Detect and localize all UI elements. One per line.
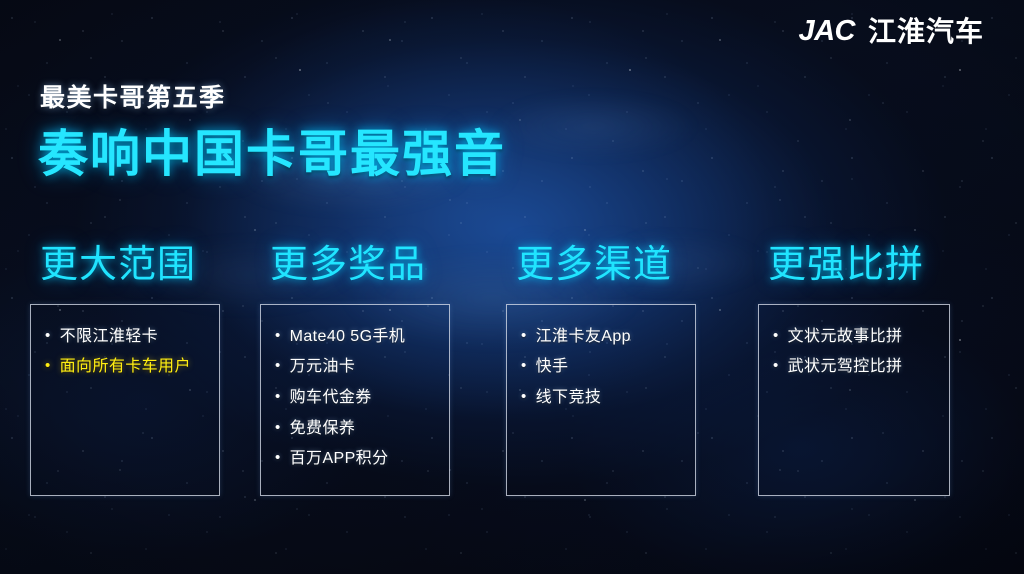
list-item-label: 百万APP积分	[290, 448, 389, 470]
list-item: • 江淮卡友App	[521, 326, 689, 348]
column-more-scope: 更大范围 • 不限江淮轻卡 • 面向所有卡车用户	[30, 246, 276, 496]
list-item-label: 江淮卡友App	[536, 326, 631, 348]
bullet-dot-icon: •	[521, 358, 527, 373]
column-stronger-competition: 更强比拼 • 文状元故事比拼 • 武状元驾控比拼	[758, 246, 1004, 496]
slide-subtitle: 最美卡哥第五季	[40, 78, 226, 114]
list-item: • 线下竞技	[521, 387, 689, 409]
bullet-dot-icon: •	[521, 328, 527, 343]
logo-chinese-name: 江淮汽车	[868, 18, 984, 46]
column-more-channels: 更多渠道 • 江淮卡友App • 快手 • 线下竞技	[506, 246, 752, 496]
list-item-label: 面向所有卡车用户	[60, 356, 191, 378]
list-item: • 百万APP积分	[275, 448, 443, 470]
bullet-dot-icon: •	[521, 389, 527, 404]
column-content-box: • Mate40 5G手机 • 万元油卡 • 购车代金券 • 免费保养	[260, 304, 450, 496]
presentation-slide: JAC 江淮汽车 最美卡哥第五季 奏响中国卡哥最强音 更大范围 • 不限江淮轻卡…	[0, 0, 1024, 574]
column-heading: 更多奖品	[270, 246, 506, 286]
column-content-box: • 江淮卡友App • 快手 • 线下竞技	[506, 304, 696, 496]
list-item-label: 不限江淮轻卡	[60, 326, 158, 348]
list-item-label: Mate40 5G手机	[290, 326, 406, 348]
list-item: • 面向所有卡车用户	[45, 356, 213, 378]
column-content-box: • 不限江淮轻卡 • 面向所有卡车用户	[30, 304, 220, 496]
list-item-label: 万元油卡	[290, 356, 356, 378]
list-item: • 购车代金券	[275, 387, 443, 409]
logo-wordmark: JAC	[798, 17, 855, 46]
list-item: • 万元油卡	[275, 356, 443, 378]
column-content-box: • 文状元故事比拼 • 武状元驾控比拼	[758, 304, 950, 496]
list-item-label: 武状元驾控比拼	[788, 356, 903, 378]
bullet-dot-icon: •	[275, 389, 281, 404]
list-item-label: 免费保养	[290, 418, 356, 440]
bullet-dot-icon: •	[773, 328, 779, 343]
bullet-list: • Mate40 5G手机 • 万元油卡 • 购车代金券 • 免费保养	[275, 326, 443, 470]
list-item-label: 线下竞技	[536, 387, 602, 409]
list-item: • Mate40 5G手机	[275, 326, 443, 348]
column-heading: 更多渠道	[516, 246, 752, 286]
list-item-label: 购车代金券	[290, 387, 372, 409]
list-item: • 免费保养	[275, 418, 443, 440]
list-item: • 武状元驾控比拼	[773, 356, 943, 378]
bullet-list: • 不限江淮轻卡 • 面向所有卡车用户	[45, 326, 213, 378]
bullet-dot-icon: •	[773, 358, 779, 373]
bullet-dot-icon: •	[275, 450, 281, 465]
slide-main-title: 奏响中国卡哥最强音	[38, 128, 506, 181]
list-item: • 文状元故事比拼	[773, 326, 943, 348]
jac-logo: JAC 江淮汽车	[798, 17, 984, 46]
bullet-dot-icon: •	[275, 420, 281, 435]
bullet-dot-icon: •	[45, 328, 51, 343]
bullet-list: • 江淮卡友App • 快手 • 线下竞技	[521, 326, 689, 409]
list-item: • 不限江淮轻卡	[45, 326, 213, 348]
list-item: • 快手	[521, 356, 689, 378]
bullet-dot-icon: •	[275, 358, 281, 373]
column-heading: 更强比拼	[768, 246, 1004, 286]
column-more-prizes: 更多奖品 • Mate40 5G手机 • 万元油卡 • 购车代金券	[260, 246, 506, 496]
column-heading: 更大范围	[40, 246, 276, 286]
list-item-label: 快手	[536, 356, 569, 378]
bullet-list: • 文状元故事比拼 • 武状元驾控比拼	[773, 326, 943, 378]
list-item-label: 文状元故事比拼	[788, 326, 903, 348]
bullet-dot-icon: •	[45, 358, 51, 373]
bullet-dot-icon: •	[275, 328, 281, 343]
